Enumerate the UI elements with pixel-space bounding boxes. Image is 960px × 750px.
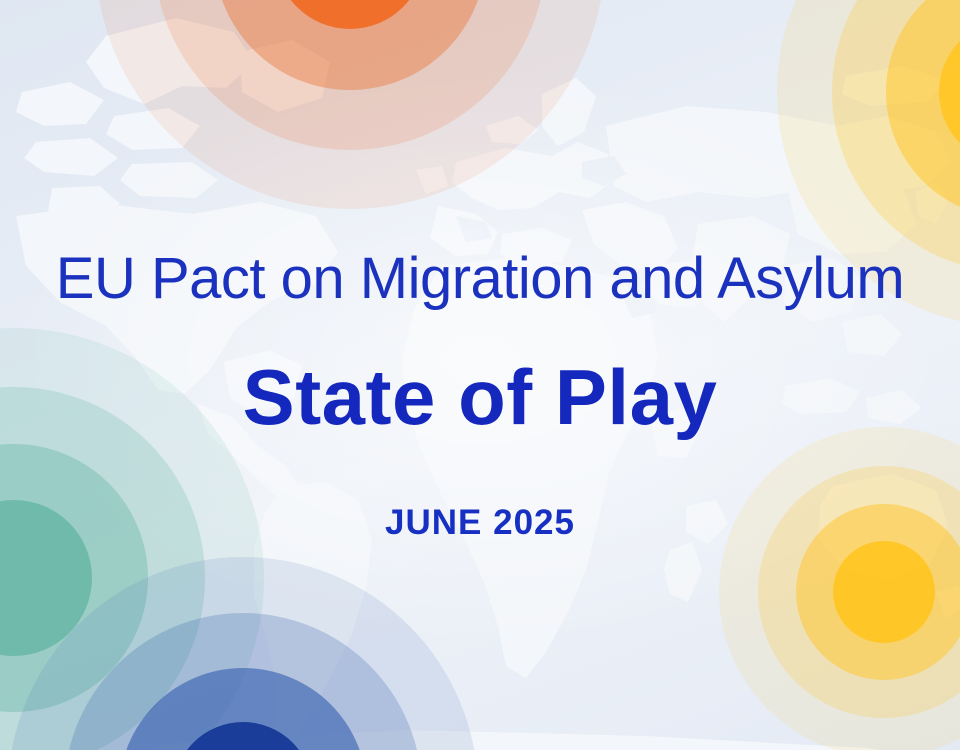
page-title: State of Play	[0, 358, 960, 436]
headline: EU Pact on Migration and Asylum	[0, 250, 960, 308]
title-content: EU Pact on Migration and Asylum State of…	[0, 0, 960, 750]
poster-canvas: EU Pact on Migration and Asylum State of…	[0, 0, 960, 750]
date-label: JUNE 2025	[0, 505, 960, 540]
